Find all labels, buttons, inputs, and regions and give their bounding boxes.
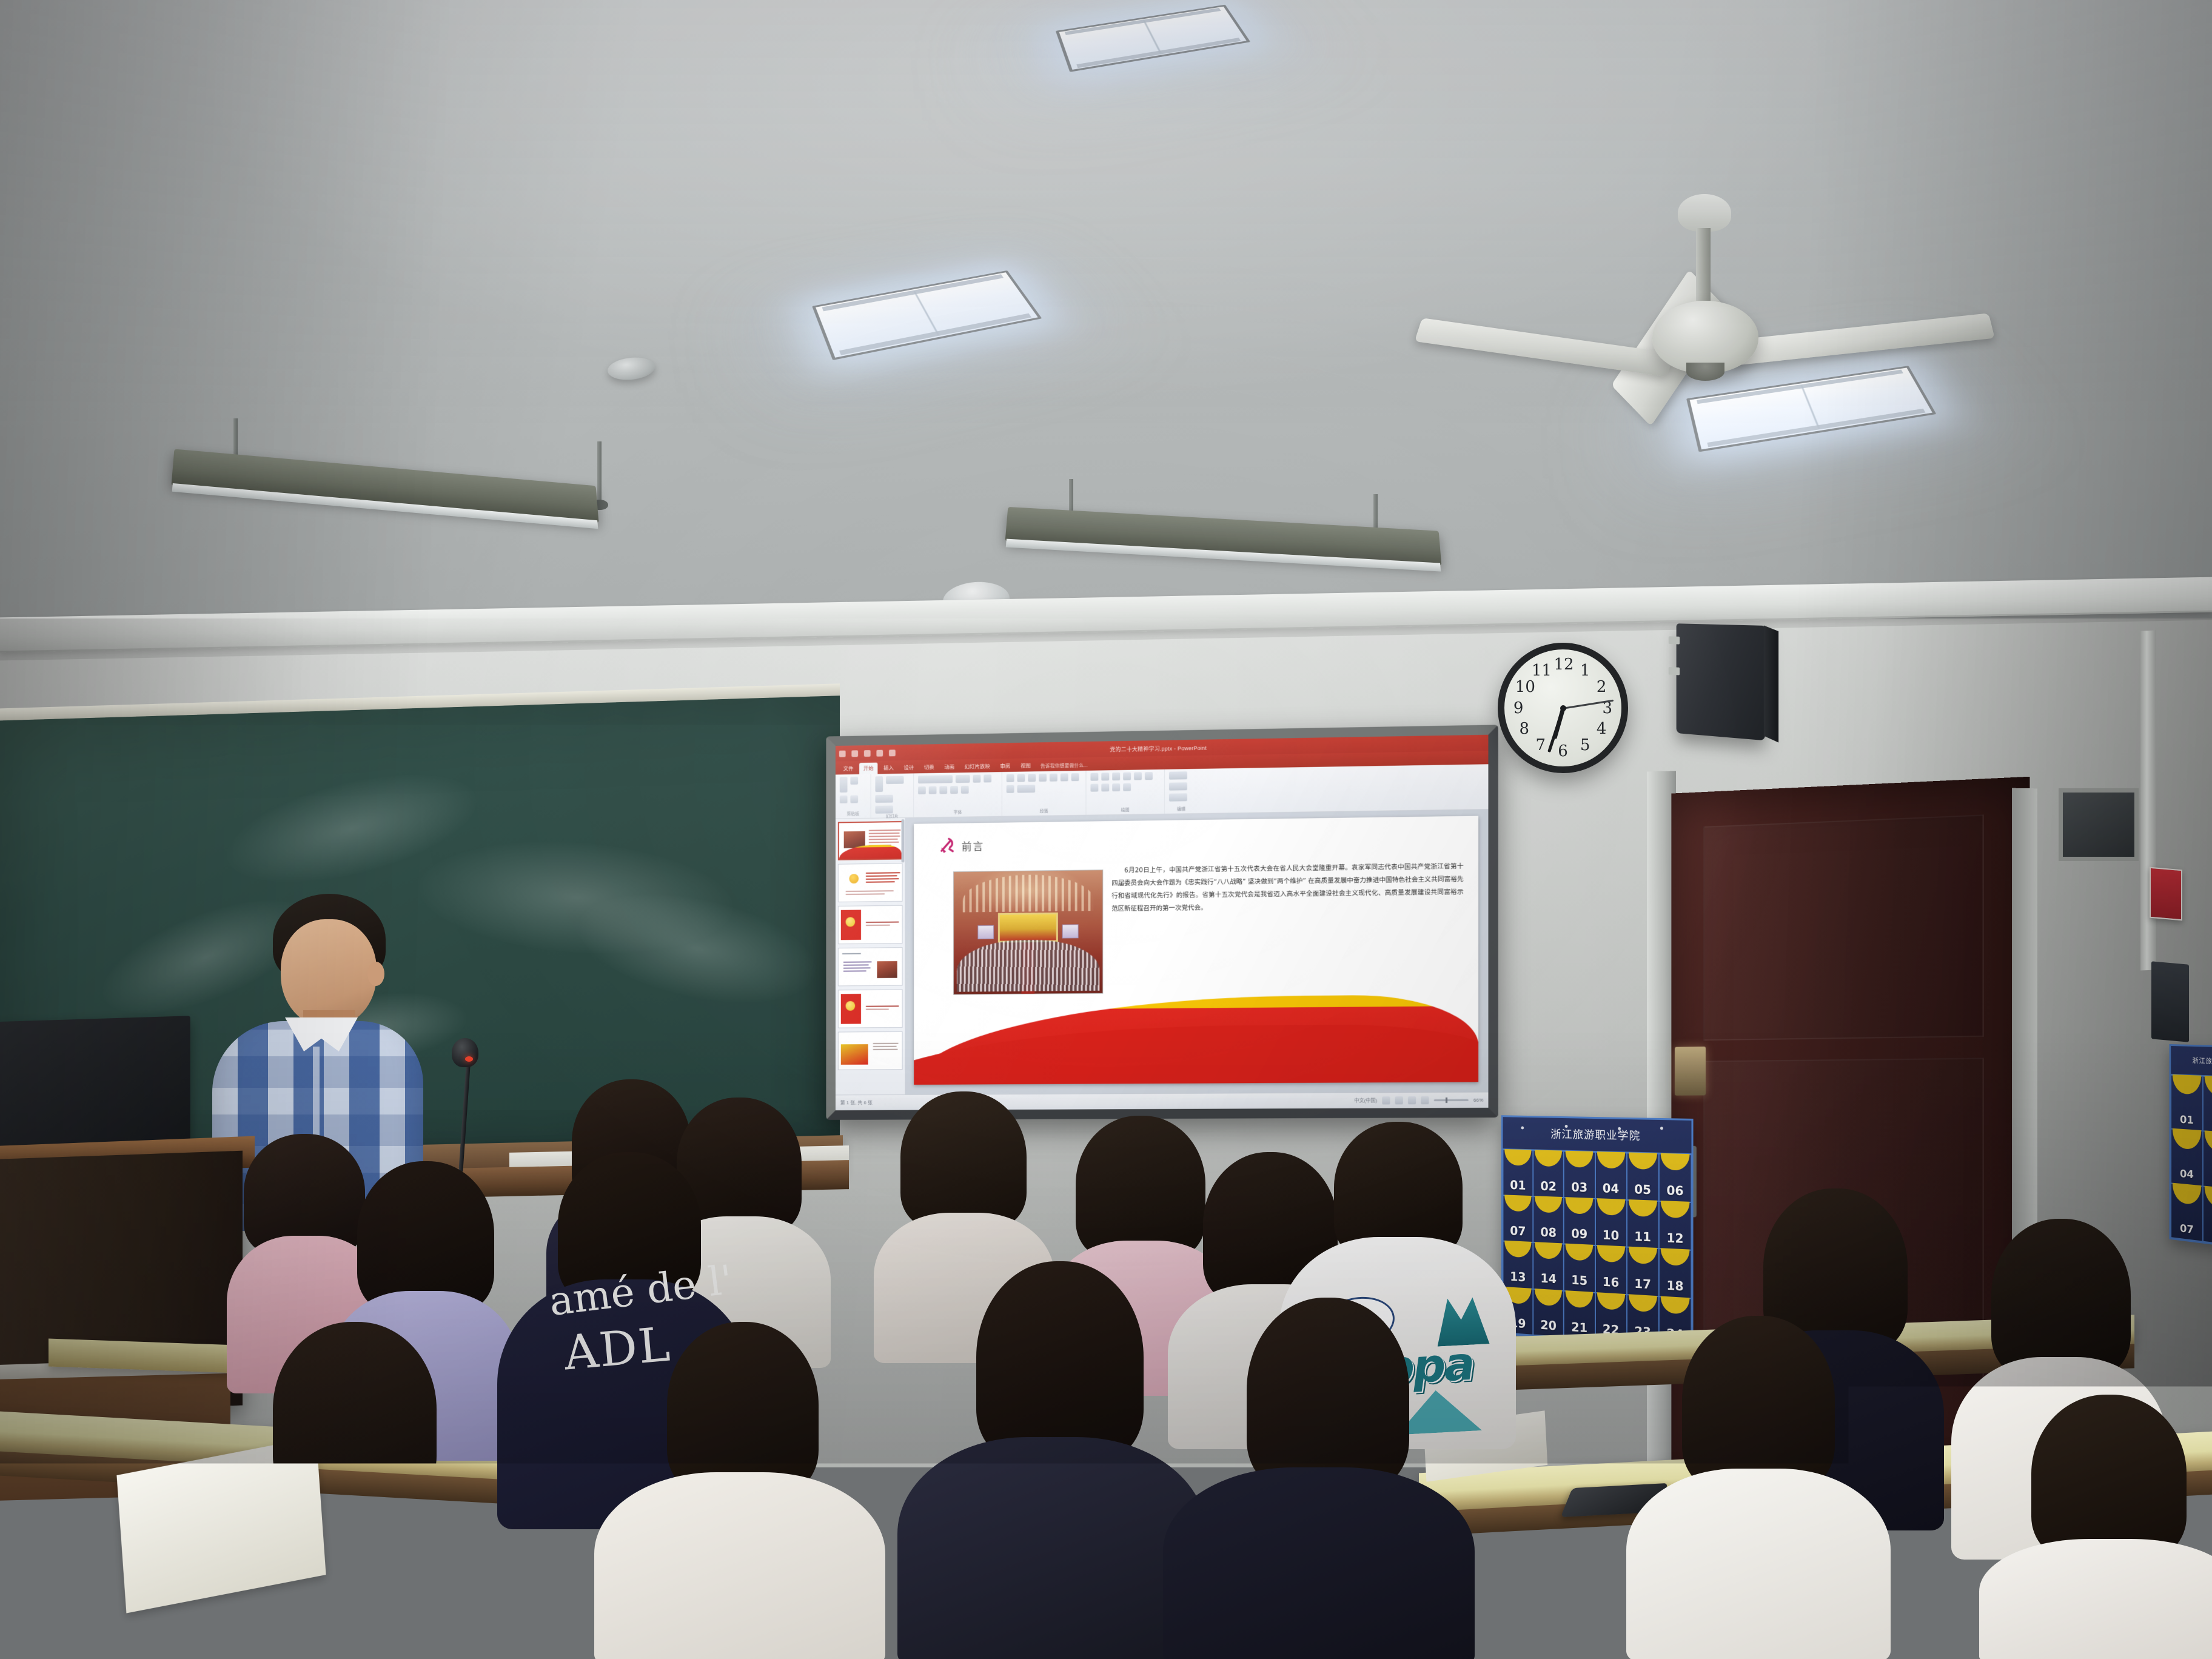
ribbon-group-clipboard[interactable]: 剪贴板 — [836, 774, 871, 819]
classroom-photo: 党的二十大精神学习.pptx - PowerPoint 文件 开始 插入 设计 … — [0, 0, 2212, 1659]
slot-number: 04 — [1603, 1181, 1619, 1196]
italic-icon[interactable] — [929, 786, 937, 794]
organizer-header: 浙江旅游职业学院 — [2171, 1046, 2212, 1079]
reading-view-icon[interactable] — [1408, 1096, 1416, 1104]
organizer-school-name: 浙江旅游职业学院 — [1550, 1126, 1640, 1144]
organizer-slot[interactable]: 02 — [2203, 1076, 2212, 1134]
slide-thumbnail-pane[interactable] — [836, 818, 905, 1094]
organizer-slot[interactable]: 04 — [1595, 1152, 1627, 1200]
door-lock-icon[interactable] — [1675, 1047, 1706, 1096]
find-icon[interactable] — [1169, 771, 1187, 779]
speaker-bracket — [1669, 667, 1680, 675]
align-right-icon[interactable] — [1071, 773, 1079, 781]
shape-outline-icon[interactable] — [1112, 783, 1120, 791]
slide-body-text: 6月20日上午，中国共产党浙江省第十五次代表大会在省人民大会堂隆重开幕。袁家军同… — [1111, 860, 1463, 916]
speaker-bracket — [1669, 636, 1680, 644]
student-clothing — [1163, 1467, 1475, 1659]
clock-number: 10 — [1515, 678, 1533, 696]
clock-center-pin — [1560, 705, 1566, 711]
clock-number: 8 — [1515, 720, 1533, 738]
slide-editing-area[interactable]: 前言 6月20日上午，中国共产党浙江省第十五次代表大会在省人民大会堂隆重开幕。袁… — [905, 809, 1488, 1094]
shadow-icon[interactable] — [950, 786, 958, 794]
select-icon[interactable] — [1169, 793, 1187, 801]
font-color-icon[interactable] — [961, 786, 969, 794]
red-wall-sign — [2150, 867, 2182, 921]
tell-me-box[interactable]: 告诉我你想要做什么... — [1037, 760, 1091, 771]
tab-view[interactable]: 视图 — [1016, 760, 1035, 771]
ribbon-group-font[interactable]: 字体 — [914, 772, 1002, 817]
slot-number: 18 — [1666, 1278, 1683, 1294]
wall-conduit-pipe — [2140, 631, 2156, 971]
clock-number: 4 — [1592, 720, 1610, 738]
folder-icon — [843, 1115, 849, 1120]
normal-view-icon[interactable] — [1382, 1096, 1390, 1104]
organizer-slot[interactable]: 17 — [1627, 1247, 1659, 1296]
copy-icon[interactable] — [840, 796, 848, 803]
shape-line-icon[interactable] — [1112, 773, 1120, 780]
tab-home[interactable]: 开始 — [859, 763, 877, 774]
slot-number: 17 — [1634, 1276, 1651, 1292]
organizer-slot[interactable]: 15 — [1564, 1244, 1595, 1293]
tab-animations[interactable]: 动画 — [940, 761, 959, 773]
taskbar-clock[interactable]: 18:33 — [1473, 1113, 1484, 1118]
align-left-icon[interactable] — [1050, 774, 1057, 782]
bullets-icon[interactable] — [1007, 774, 1014, 782]
current-slide[interactable]: 前言 6月20日上午，中国共产党浙江省第十五次代表大会在省人民大会堂隆重开幕。袁… — [914, 816, 1478, 1085]
slide-indicator: 第 1 张, 共 6 张 — [840, 1099, 873, 1106]
slot-number: 02 — [1540, 1179, 1557, 1194]
slide-sorter-icon[interactable] — [1395, 1096, 1403, 1104]
bold-icon[interactable] — [918, 786, 926, 794]
fan-ceiling-mount — [1678, 194, 1731, 232]
slot-number: 13 — [1510, 1270, 1526, 1285]
shirt-roman-numeral: VIII — [363, 1598, 495, 1659]
cpc-hammer-sickle-emblem — [937, 837, 956, 855]
smart-board-display[interactable]: 党的二十大精神学习.pptx - PowerPoint 文件 开始 插入 设计 … — [826, 725, 1498, 1120]
arrange-icon[interactable] — [1145, 772, 1153, 780]
student-clothing — [897, 1437, 1207, 1659]
student-clothing — [594, 1472, 885, 1659]
reset-icon[interactable] — [875, 795, 893, 803]
shape-rect-icon[interactable] — [1090, 773, 1098, 781]
clock-number: 5 — [1576, 736, 1594, 754]
shape-oval-icon[interactable] — [1134, 772, 1142, 780]
slide-title: 前言 — [962, 837, 984, 853]
student-hair — [900, 1091, 1027, 1228]
section-icon[interactable] — [875, 805, 893, 813]
ceiling-fan — [1452, 194, 1974, 449]
clock-number: 12 — [1554, 655, 1572, 674]
tab-review[interactable]: 审阅 — [996, 760, 1015, 772]
organizer-slot[interactable]: 14 — [1533, 1242, 1564, 1290]
slot-number: 14 — [1540, 1271, 1557, 1286]
fan-blade — [1723, 313, 1995, 366]
slide-thumbnail[interactable] — [838, 821, 903, 860]
student-hair — [1991, 1219, 2131, 1378]
wall-clock: 12 1 2 3 4 5 6 7 8 9 10 11 — [1498, 643, 1628, 773]
fan-blade — [1415, 318, 1674, 377]
organizer-slot[interactable]: 03 — [1564, 1151, 1595, 1199]
organizer-slot[interactable]: 07 — [2171, 1184, 2203, 1242]
replace-icon[interactable] — [1169, 782, 1187, 790]
grow-font-icon[interactable] — [973, 775, 981, 783]
student-hair — [1682, 1316, 1835, 1492]
organizer-slot[interactable]: 06 — [1659, 1153, 1692, 1202]
student-hair — [667, 1322, 819, 1495]
microphone-head — [452, 1038, 478, 1067]
slot-number: 09 — [1571, 1226, 1587, 1241]
student — [1989, 1395, 2212, 1659]
slot-number: 03 — [1571, 1179, 1587, 1195]
tab-transitions[interactable]: 切换 — [920, 762, 938, 773]
organizer-slot[interactable]: 12 — [1659, 1201, 1692, 1250]
slot-number: 21 — [1571, 1319, 1587, 1335]
quick-styles-icon[interactable] — [1090, 784, 1098, 792]
slideshow-icon[interactable] — [1421, 1096, 1429, 1104]
ribbon-group-slides[interactable]: 幻灯片 — [871, 773, 914, 817]
slot-number: 01 — [1510, 1178, 1526, 1192]
door-panel-upper — [1703, 814, 1983, 1041]
powerpoint-workspace: 前言 6月20日上午，中国共产党浙江省第十五次代表大会在省人民大会堂隆重开幕。袁… — [836, 809, 1488, 1094]
language-indicator[interactable]: 中文(中国) — [1354, 1097, 1377, 1104]
slot-number: 06 — [1666, 1183, 1683, 1198]
clock-number: 2 — [1592, 678, 1610, 696]
clock-number: 7 — [1532, 736, 1550, 754]
student-hair — [1247, 1298, 1409, 1490]
fan-downrod — [1696, 228, 1711, 301]
organizer-slot[interactable]: 01 — [2171, 1074, 2203, 1131]
slot-number: 01 — [2180, 1113, 2194, 1127]
slide-photo-conference-hall — [953, 870, 1103, 995]
slot-number: 15 — [1571, 1273, 1587, 1288]
organizer-slot[interactable]: 08 — [1533, 1196, 1564, 1244]
taskbar-item-label: 文件资源管理器 — [851, 1114, 882, 1120]
door-window — [2059, 788, 2139, 861]
thumbnail-scrollbar[interactable] — [902, 819, 905, 862]
phone-pocket-organizer-right[interactable]: 浙江旅游职业学院 01 02 03 04 05 06 07 08 09 — [2170, 1044, 2212, 1252]
organizer-school-name: 浙江旅游职业学院 — [2193, 1056, 2212, 1067]
organizer-slot[interactable]: 16 — [1595, 1245, 1627, 1294]
powerpoint-window[interactable]: 党的二十大精神学习.pptx - PowerPoint 文件 开始 插入 设计 … — [836, 735, 1488, 1110]
organizer-slot[interactable]: 04 — [2171, 1129, 2203, 1187]
slot-number: 05 — [1634, 1182, 1651, 1197]
light-hanger-rod — [597, 441, 602, 502]
student — [1637, 1316, 1880, 1659]
shape-triangle-icon[interactable] — [1101, 773, 1109, 780]
ribbon-group-label: 段落 — [1007, 808, 1082, 815]
phone-pocket-organizer[interactable]: 浙江旅游职业学院 01 02 03 04 05 06 07 08 09 10 1… — [1501, 1115, 1694, 1348]
microphone-led-indicator — [465, 1056, 473, 1062]
slide-thumbnail[interactable] — [838, 947, 903, 986]
font-family-select[interactable] — [918, 775, 953, 783]
justify-icon[interactable] — [1007, 785, 1014, 793]
lecturer-ear — [367, 962, 384, 986]
ribbon-group-label: 字体 — [918, 809, 997, 816]
ribbon-group-paragraph[interactable]: 段落 — [1002, 771, 1087, 816]
wall-speaker — [1677, 623, 1765, 740]
organizer-slot[interactable]: 07 — [1503, 1195, 1533, 1242]
font-size-select[interactable] — [956, 775, 970, 783]
layout-icon[interactable] — [886, 776, 903, 784]
slot-number: 04 — [2180, 1168, 2194, 1182]
underline-icon[interactable] — [939, 786, 947, 794]
student-hair — [357, 1161, 494, 1313]
increase-indent-icon[interactable] — [1039, 774, 1047, 782]
slot-number: 11 — [1634, 1229, 1651, 1245]
slide-thumbnail[interactable] — [838, 905, 903, 944]
slide-thumbnail[interactable] — [838, 989, 903, 1028]
numbering-icon[interactable] — [1017, 774, 1025, 782]
slot-number: 12 — [1666, 1230, 1683, 1246]
taskbar-item-explorer[interactable]: 文件资源管理器 — [839, 1113, 886, 1120]
shape-fill-icon[interactable] — [1101, 783, 1109, 791]
organizer-slot[interactable]: 05 — [1627, 1153, 1659, 1201]
wall-mounted-box — [2151, 961, 2189, 1042]
organizer-slot[interactable]: 21 — [1564, 1291, 1595, 1339]
student-hair — [2031, 1395, 2187, 1560]
organizer-slot[interactable]: 09 — [1564, 1198, 1595, 1245]
slot-number: 20 — [1540, 1318, 1557, 1333]
student — [1176, 1298, 1461, 1659]
organizer-slot[interactable]: 18 — [1659, 1248, 1692, 1298]
convert-smartart-icon[interactable] — [1017, 785, 1036, 793]
student — [606, 1322, 873, 1659]
paste-icon[interactable] — [840, 777, 848, 793]
shape-effects-icon[interactable] — [1123, 783, 1131, 791]
cut-icon[interactable] — [850, 777, 858, 785]
organizer-slot[interactable]: 11 — [1627, 1200, 1659, 1249]
organizer-header: 浙江旅游职业学院 — [1503, 1117, 1691, 1155]
clock-number: 1 — [1576, 662, 1594, 680]
ribbon-group-label: 剪贴板 — [840, 811, 866, 817]
tab-design[interactable]: 设计 — [900, 762, 918, 773]
organizer-slot[interactable]: 05 — [2203, 1131, 2212, 1190]
slide-thumbnail[interactable] — [838, 863, 903, 902]
student-hair — [273, 1322, 437, 1504]
organizer-slot[interactable]: 10 — [1595, 1199, 1627, 1247]
shrink-font-icon[interactable] — [984, 774, 991, 782]
ribbon-group-editing[interactable]: 编辑 — [1165, 769, 1198, 814]
organizer-slot[interactable]: 02 — [1533, 1150, 1564, 1198]
slot-number: 07 — [1510, 1224, 1526, 1239]
format-painter-icon[interactable] — [850, 796, 858, 803]
slide-header: 前言 — [937, 836, 984, 855]
organizer-slot[interactable]: 01 — [1503, 1150, 1533, 1197]
tab-insert[interactable]: 插入 — [879, 762, 897, 774]
student-clothing — [1979, 1539, 2212, 1659]
tab-file[interactable]: 文件 — [839, 763, 857, 774]
decrease-indent-icon[interactable] — [1028, 774, 1036, 782]
organizer-slot[interactable]: 13 — [1503, 1241, 1533, 1289]
fan-motor-hub — [1652, 301, 1758, 374]
student — [910, 1261, 1195, 1659]
student-clothing — [1626, 1469, 1891, 1659]
shape-arrow-icon[interactable] — [1123, 773, 1131, 780]
ribbon-group-label: 绘图 — [1090, 806, 1160, 814]
slide-thumbnail[interactable] — [838, 1031, 903, 1070]
ribbon-group-label: 编辑 — [1169, 806, 1193, 813]
clock-number: 11 — [1532, 662, 1550, 680]
clock-number: 6 — [1554, 742, 1572, 760]
zoom-level[interactable]: 66% — [1473, 1098, 1483, 1103]
organizer-slot[interactable]: 20 — [1533, 1289, 1564, 1338]
slot-number: 10 — [1603, 1228, 1619, 1243]
slot-number: 07 — [2180, 1222, 2194, 1236]
new-slide-icon[interactable] — [875, 776, 883, 792]
tab-slideshow[interactable]: 幻灯片放映 — [960, 760, 994, 773]
student-hair — [976, 1261, 1144, 1461]
ribbon-group-drawing[interactable]: 绘图 — [1086, 769, 1164, 815]
clock-number: 9 — [1509, 699, 1527, 717]
slot-number: 08 — [1540, 1225, 1557, 1240]
slot-number: 16 — [1603, 1275, 1619, 1290]
align-center-icon[interactable] — [1061, 773, 1068, 781]
organizer-slot[interactable]: 08 — [2203, 1187, 2212, 1246]
organizer-slot-grid: 01 02 03 04 05 06 07 08 09 — [2171, 1074, 2212, 1250]
zoom-slider[interactable] — [1434, 1099, 1469, 1101]
